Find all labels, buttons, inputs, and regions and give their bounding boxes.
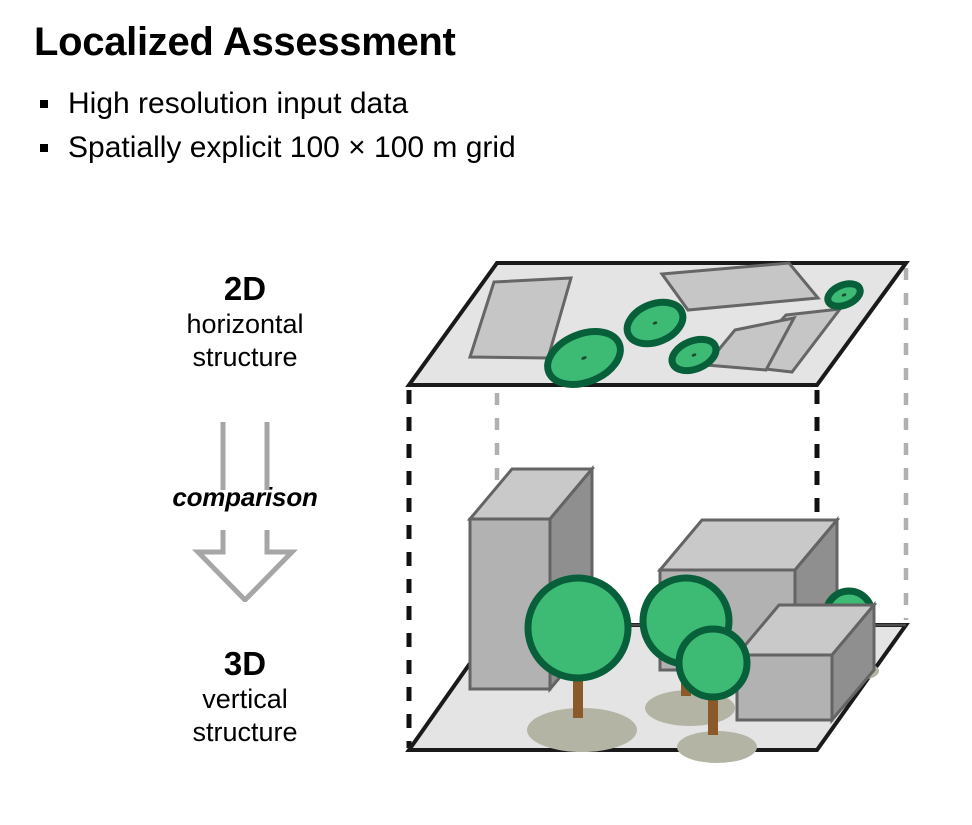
- tree-1-crown: [528, 578, 628, 678]
- building-low-right-front-face: [737, 655, 832, 720]
- tree-3-shadow: [677, 731, 757, 763]
- top-plane-group: [409, 263, 906, 394]
- structure-diagram: [0, 0, 972, 825]
- slide-canvas: Localized Assessment High resolution inp…: [0, 0, 972, 825]
- bottom-plane-group: [409, 469, 906, 763]
- tree-3-crown: [679, 629, 747, 697]
